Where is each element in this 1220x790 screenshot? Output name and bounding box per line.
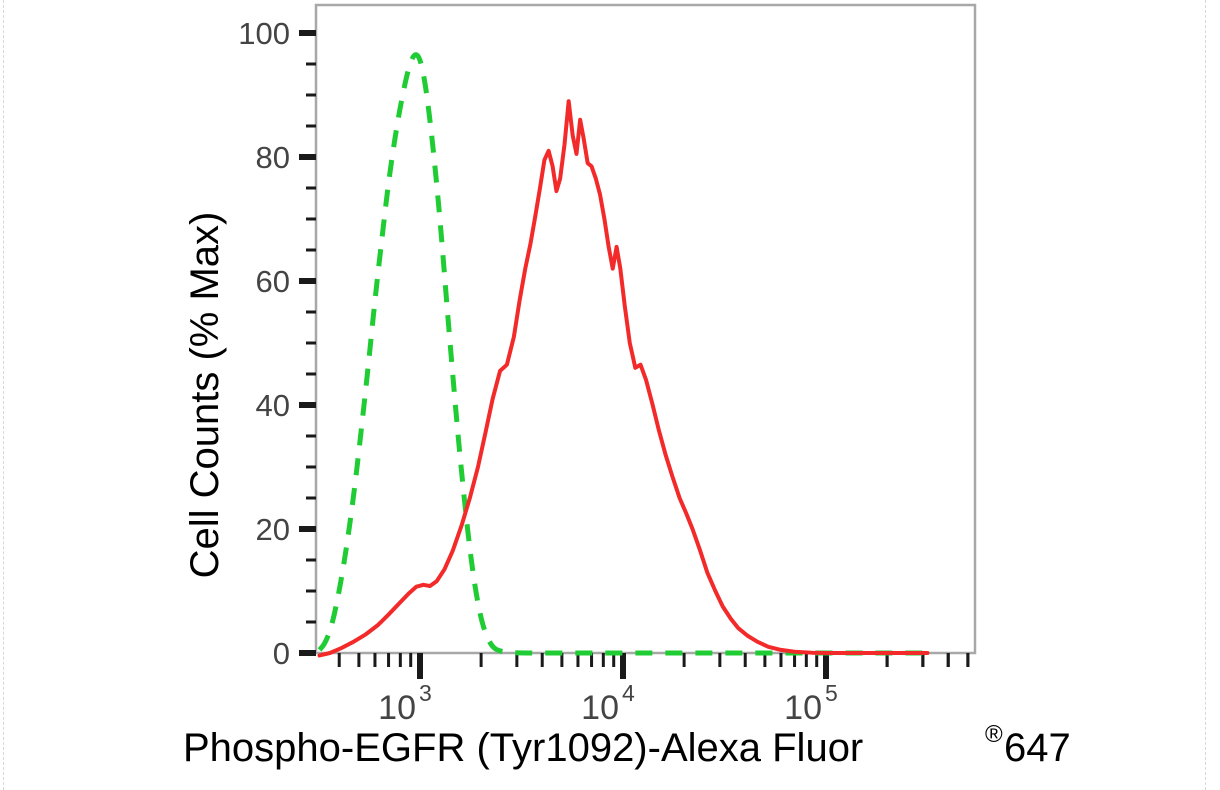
y-axis-tick-label: 20 <box>256 512 290 547</box>
page-left-guide <box>3 0 5 790</box>
x-axis-major-tick-label: 103 <box>378 680 432 727</box>
x-tick-mantissa: 10 <box>784 689 822 727</box>
histogram-plot: 020406080100 103104105 Cell Counts (% Ma… <box>0 0 1220 790</box>
x-tick-mantissa: 10 <box>378 689 416 727</box>
flow-cytometry-histogram-figure: 020406080100 103104105 Cell Counts (% Ma… <box>0 0 1220 790</box>
plot-frame <box>316 5 975 653</box>
x-axis-tick-labels: 103104105 <box>378 680 838 727</box>
y-axis-ticks <box>299 33 316 653</box>
y-axis-tick-label: 0 <box>273 636 290 671</box>
x-axis-ticks <box>339 653 968 679</box>
x-tick-mantissa: 10 <box>581 689 619 727</box>
x-tick-exponent: 4 <box>622 680 635 706</box>
x-axis-title-main: Phospho-EGFR (Tyr1092)-Alexa Fluor <box>183 726 863 770</box>
y-axis-tick-label: 60 <box>256 264 290 299</box>
x-axis-title-registered-mark: ® <box>985 721 1003 748</box>
y-axis-tick-label: 100 <box>238 16 290 51</box>
x-axis-major-tick-label: 105 <box>784 680 838 727</box>
x-axis-title-tail: 647 <box>1004 726 1071 770</box>
y-axis-tick-labels: 020406080100 <box>238 16 290 671</box>
plot-area-border <box>316 5 975 653</box>
page-right-guide <box>1205 0 1207 790</box>
y-axis-tick-label: 80 <box>256 140 290 175</box>
y-axis-tick-label: 40 <box>256 388 290 423</box>
y-axis-title: Cell Counts (% Max) <box>183 212 227 579</box>
x-tick-exponent: 5 <box>825 680 838 706</box>
x-axis-title: Phospho-EGFR (Tyr1092)-Alexa Fluor ® 647 <box>183 721 1071 770</box>
x-axis-major-tick-label: 104 <box>581 680 635 727</box>
x-tick-exponent: 3 <box>419 680 432 706</box>
